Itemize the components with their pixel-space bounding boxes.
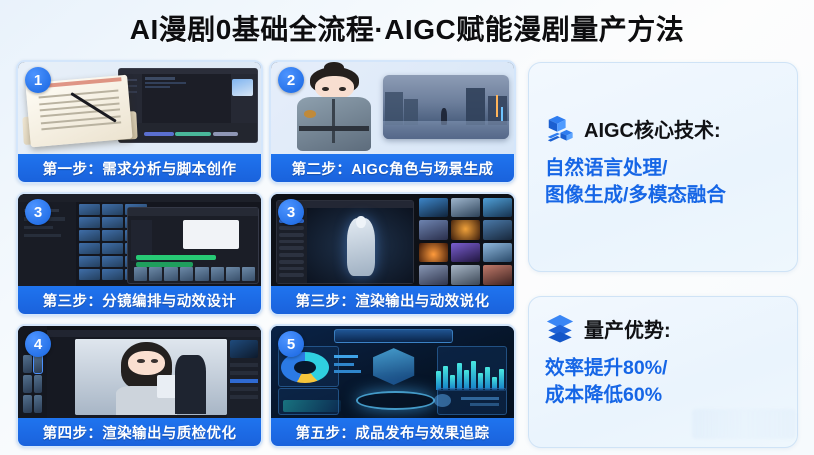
poster-root: AI漫剧0基础全流程·AIGC赋能漫剧量产方法 bbox=[0, 0, 814, 455]
step-1-badge: 1 bbox=[25, 67, 51, 93]
mass-production-header: 量产优势: bbox=[545, 313, 781, 343]
step-card-3[interactable]: 3 第三步：分镜编排与动效设计 bbox=[16, 192, 263, 316]
step-2-label: 第二步：AIGC角色与场景生成 bbox=[271, 154, 514, 182]
mass-production-title: 量产优势: bbox=[584, 314, 671, 343]
mass-production-line-1: 效率提升80%/ bbox=[545, 355, 781, 382]
step-5-badge: 4 bbox=[25, 331, 51, 357]
step-2-image bbox=[271, 62, 514, 154]
render-gallery-art bbox=[419, 198, 511, 285]
step-card-1[interactable]: AI工 1 第一步：需求分析与脚本创作 bbox=[16, 60, 263, 184]
dashboard-header-art bbox=[334, 329, 453, 343]
step-2-badge: 2 bbox=[278, 67, 304, 93]
bar-chart-art bbox=[436, 357, 504, 390]
step-5-image bbox=[18, 326, 261, 418]
step-3-image bbox=[18, 194, 261, 286]
aigc-core-tech-lines: 自然语言处理/ 图像生成/多模态融合 bbox=[545, 155, 781, 209]
cube-blocks-icon bbox=[545, 113, 575, 143]
step-3-label: 第三步：分镜编排与动效设计 bbox=[18, 286, 261, 314]
stacked-layers-icon bbox=[545, 313, 575, 343]
hologram-ring-art bbox=[356, 391, 435, 410]
step-3-badge: 3 bbox=[25, 199, 51, 225]
aigc-core-tech-line-2: 图像生成/多模态融合 bbox=[545, 182, 781, 209]
scene-art bbox=[383, 75, 509, 139]
mass-production-line-2: 成本降低60% bbox=[545, 382, 781, 409]
step-6-image bbox=[271, 326, 514, 418]
watermark bbox=[692, 409, 796, 439]
step-1-image: AI工 bbox=[18, 62, 261, 154]
steps-grid: AI工 1 第一步：需求分析与脚本创作 bbox=[16, 60, 516, 448]
step-card-4[interactable]: 3 第三步：渲染输出与动效说化 bbox=[269, 192, 516, 316]
aigc-core-tech-header: AIGC核心技术: bbox=[545, 113, 781, 143]
aigc-core-tech-title: AIGC核心技术: bbox=[584, 114, 721, 143]
step-card-6[interactable]: 5 第五步：成品发布与效果追踪 bbox=[269, 324, 516, 448]
page-title: AI漫剧0基础全流程·AIGC赋能漫剧量产方法 bbox=[130, 8, 684, 48]
aigc-core-tech-panel[interactable]: AIGC核心技术: 自然语言处理/ 图像生成/多模态融合 bbox=[528, 62, 798, 272]
step-1-label: 第一步：需求分析与脚本创作 bbox=[18, 154, 261, 182]
editor-window-art bbox=[118, 68, 259, 144]
step-4-label: 第三步：渲染输出与动效说化 bbox=[271, 286, 514, 314]
timeline-window-art bbox=[127, 207, 258, 284]
qc-app-art bbox=[47, 330, 261, 418]
page-title-bar: AI漫剧0基础全流程·AIGC赋能漫剧量产方法 bbox=[0, 4, 814, 52]
mass-production-lines: 效率提升80%/ 成本降低60% bbox=[545, 355, 781, 409]
step-6-badge: 5 bbox=[278, 331, 304, 357]
step-4-badge: 3 bbox=[278, 199, 304, 225]
line-chart-art bbox=[283, 400, 341, 413]
step-card-2[interactable]: 2 第二步：AIGC角色与场景生成 bbox=[269, 60, 516, 184]
step-4-image bbox=[271, 194, 514, 286]
step-card-5[interactable]: 4 第四步：渲染输出与质检优化 bbox=[16, 324, 263, 448]
aigc-core-tech-line-1: 自然语言处理/ bbox=[545, 155, 781, 182]
step-6-label: 第五步：成品发布与效果追踪 bbox=[271, 418, 514, 446]
step-5-label: 第四步：渲染输出与质检优化 bbox=[18, 418, 261, 446]
